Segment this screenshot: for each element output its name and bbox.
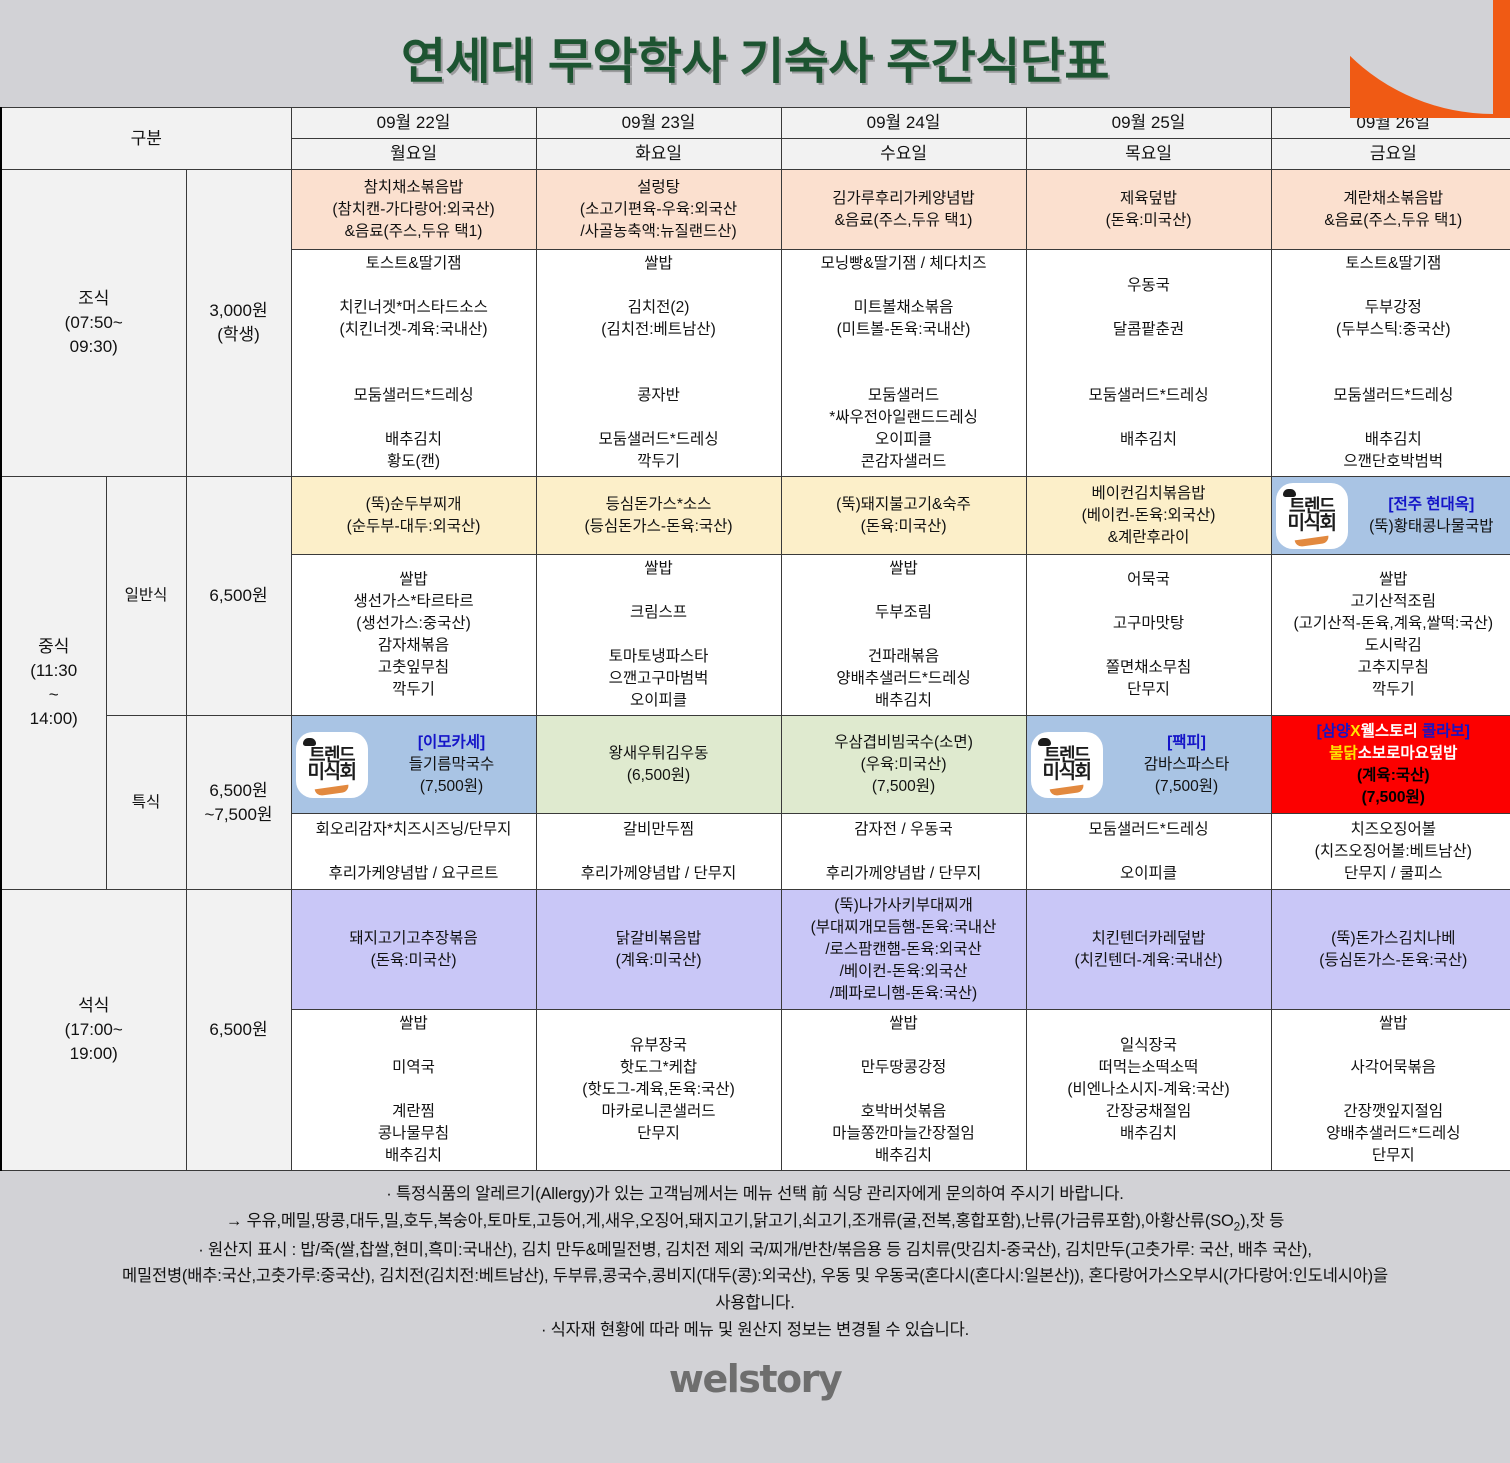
dinner-main-dish: 돼지고기고추장볶음(돈육:미국산): [291, 890, 536, 1010]
day-header-weekday: 월요일: [291, 139, 536, 170]
breakfast-side-dishes: 우동국달콤팥춘권모둠샐러드*드레싱배추김치: [1026, 250, 1271, 477]
breakfast-side-dishes: 토스트&딸기잼치킨너겟*머스타드소스(치킨너겟-계육:국내산)모둠샐러드*드레싱…: [291, 250, 536, 477]
lunch-kind-special: 특식: [106, 716, 186, 890]
lunch-special-head-row: 특식6,500원~7,500원트렌드미식회[이모카세]들기름막국수(7,500원…: [1, 716, 1510, 814]
lunch-main-dish: 등심돈가스*소스(등심돈가스-돈육:국산): [536, 477, 781, 555]
meal-label-breakfast: 조식(07:50~09:30): [1, 170, 186, 477]
badge-brand: [이모카세]: [372, 732, 532, 754]
breakfast-main-dish: 설렁탕(소고기편육-우육:외국산/사골농축액:뉴질랜드산): [536, 170, 781, 250]
lunch-side-dishes: 쌀밥두부조림건파래볶음양배추샐러드*드레싱배추김치: [781, 555, 1026, 716]
special-side-dishes: 회오리감자*치즈시즈닝/단무지후리가케양념밥 / 요구르트: [291, 814, 536, 890]
breakfast-main-dish: 제육덮밥(돈육:미국산): [1026, 170, 1271, 250]
trend-misikhoe-logo-icon: 트렌드미식회: [296, 732, 368, 798]
lunch-regular-head-row: 중식(11:30~14:00)일반식6,500원(뚝)순두부찌개(순두부-대두:…: [1, 477, 1510, 555]
day-header-weekday: 화요일: [536, 139, 781, 170]
day-header-weekday: 목요일: [1026, 139, 1271, 170]
meal-label-lunch: 중식(11:30~14:00): [1, 477, 106, 890]
collab-menu-line: 불닭소보로마요덮밥: [1274, 743, 1510, 765]
table-header-row-date: 구분09월 22일09월 23일09월 24일09월 25일09월 26일: [1, 108, 1510, 139]
dinner-side-dishes: 유부장국핫도그*케찹(핫도그-계육,돈육:국산)마카로니콘샐러드단무지: [536, 1010, 781, 1171]
chef-hat-icon: [1038, 738, 1051, 746]
lunch-main-dish: 베이컨김치볶음밥(베이컨-돈육:외국산)&계란후라이: [1026, 477, 1271, 555]
breakfast-main-dish: 참치채소볶음밥(참치캔-가다랑어:외국산)&음료(주스,두유 택1): [291, 170, 536, 250]
menu-poster: 연세대 무악학사 기숙사 주간식단표 구분09월 22일09월 23일09월 2…: [0, 0, 1510, 1463]
note-line-3: · 원산지 표시 : 밥/죽(쌀,찹쌀,현미,흑미:국내산), 김치 만두&메밀…: [22, 1237, 1488, 1264]
collab-price-line: (7,500원): [1274, 787, 1510, 809]
special-dish-collab: [삼양X웰스토리 콜라보]불닭소보로마요덮밥(계육:국산)(7,500원): [1271, 716, 1510, 814]
dinner-side-dishes: 일식장국떠먹는소떡소떡(비엔나소시지-계육:국산)간장궁채절임배추김치: [1026, 1010, 1271, 1171]
lunch-price-special: 6,500원~7,500원: [186, 716, 291, 890]
day-header-date: 09월 22일: [291, 108, 536, 139]
dinner-head-row: 석식(17:00~19:00)6,500원돼지고기고추장볶음(돈육:미국산)닭갈…: [1, 890, 1510, 1010]
trend-misikhoe-logo-icon: 트렌드미식회: [1276, 483, 1348, 549]
footer-notes: · 특정식품의 알레르기(Allergy)가 있는 고객님께서는 메뉴 선택 前…: [22, 1181, 1488, 1343]
lunch-price-regular: 6,500원: [186, 477, 291, 716]
day-header-date: 09월 25일: [1026, 108, 1271, 139]
chef-hat-icon: [303, 738, 316, 746]
collab-origin-line: (계육:국산): [1274, 765, 1510, 787]
dinner-side-dishes: 쌀밥미역국계란찜콩나물무침배추김치: [291, 1010, 536, 1171]
note-line-5: 사용합니다.: [22, 1290, 1488, 1317]
day-header-weekday: 금요일: [1271, 139, 1510, 170]
special-dish: 우삼겹비빔국수(소면)(우육:미국산)(7,500원): [781, 716, 1026, 814]
badge-brand: [전주 현대옥]: [1352, 494, 1510, 516]
lunch-kind-regular: 일반식: [106, 477, 186, 716]
lunch-main-dish: (뚝)순두부찌개(순두부-대두:외국산): [291, 477, 536, 555]
special-dish-brand: 트렌드미식회[이모카세]들기름막국수(7,500원): [291, 716, 536, 814]
badge-price: (7,500원): [372, 776, 532, 798]
lunch-side-dishes: 쌀밥고기산적조림(고기산적-돈육,계육,쌀떡:국산)도시락김고추지무침깍두기: [1271, 555, 1510, 716]
dinner-side-dishes: 쌀밥사각어묵볶음간장깻잎지절임양배추샐러드*드레싱단무지: [1271, 1010, 1510, 1171]
note-line-1: · 특정식품의 알레르기(Allergy)가 있는 고객님께서는 메뉴 선택 前…: [22, 1181, 1488, 1208]
meal-price-breakfast: 3,000원(학생): [186, 170, 291, 477]
special-side-dishes: 치즈오징어볼(치즈오징어볼:베트남산)단무지 / 쿨피스: [1271, 814, 1510, 890]
crossed-utensils-icon: [314, 784, 349, 796]
lunch-main-dish-brand: 트렌드미식회[전주 현대옥](뚝)황태콩나물국밥: [1271, 477, 1510, 555]
crossed-utensils-icon: [1294, 535, 1329, 547]
lunch-side-dishes: 쌀밥생선가스*타르타르(생선가스:중국산)감자채볶음고춧잎무침깍두기: [291, 555, 536, 716]
day-header-date: 09월 24일: [781, 108, 1026, 139]
special-side-dishes: 모둠샐러드*드레싱오이피클: [1026, 814, 1271, 890]
breakfast-side-dishes: 토스트&딸기잼두부강정(두부스틱:중국산)모둠샐러드*드레싱배추김치으깬단호박범…: [1271, 250, 1510, 477]
meal-price-dinner: 6,500원: [186, 890, 291, 1171]
dinner-main-dish: 닭갈비볶음밥(계육:미국산): [536, 890, 781, 1010]
collab-brand-line: [삼양X웰스토리 콜라보]: [1274, 721, 1510, 743]
lunch-side-dishes: 어묵국고구마맛탕쫄면채소무침단무지: [1026, 555, 1271, 716]
special-side-dishes: 갈비만두찜후리가께양념밥 / 단무지: [536, 814, 781, 890]
badge-price: (7,500원): [1107, 776, 1267, 798]
crossed-utensils-icon: [1049, 784, 1084, 796]
day-header-date: 09월 23일: [536, 108, 781, 139]
special-dish-brand: 트렌드미식회[팩피]감바스파스타(7,500원): [1026, 716, 1271, 814]
weekly-menu-table: 구분09월 22일09월 23일09월 24일09월 25일09월 26일월요일…: [0, 107, 1510, 1171]
dinner-main-dish: 치킨텐더카레덮밥(치킨텐더-계육:국내산): [1026, 890, 1271, 1010]
page-title: 연세대 무악학사 기숙사 주간식단표: [0, 0, 1510, 107]
badge-menu: 들기름막국수: [372, 754, 532, 776]
welstory-logo: welstory: [0, 1357, 1510, 1401]
corner-label: 구분: [1, 108, 291, 170]
chef-hat-icon: [1283, 489, 1296, 497]
badge-brand: [팩피]: [1107, 732, 1267, 754]
trend-misikhoe-logo-icon: 트렌드미식회: [1031, 732, 1103, 798]
lunch-side-dishes: 쌀밥크림스프토마토냉파스타으깬고구마범벅오이피클: [536, 555, 781, 716]
lunch-main-dish: (뚝)돼지불고기&숙주(돈육:미국산): [781, 477, 1026, 555]
day-header-weekday: 수요일: [781, 139, 1026, 170]
breakfast-main-dish: 계란채소볶음밥&음료(주스,두유 택1): [1271, 170, 1510, 250]
meal-label-dinner: 석식(17:00~19:00): [1, 890, 186, 1171]
dinner-side-dishes: 쌀밥만두땅콩강정호박버섯볶음마늘쫑깐마늘간장절임배추김치: [781, 1010, 1026, 1171]
badge-menu: 감바스파스타: [1107, 754, 1267, 776]
note-line-4: 메밀전병(배추:국산,고춧가루:중국산), 김치전(김치전:베트남산), 두부류…: [22, 1263, 1488, 1290]
breakfast-side-dishes: 쌀밥김치전(2)(김치전:베트남산)콩자반모둠샐러드*드레싱깍두기: [536, 250, 781, 477]
badge-menu: (뚝)황태콩나물국밥: [1352, 516, 1510, 538]
dinner-main-dish: (뚝)돈가스김치나베(등심돈가스-돈육:국산): [1271, 890, 1510, 1010]
breakfast-head-row: 조식(07:50~09:30)3,000원(학생)참치채소볶음밥(참치캔-가다랑…: [1, 170, 1510, 250]
special-side-dishes: 감자전 / 우동국후리가께양념밥 / 단무지: [781, 814, 1026, 890]
breakfast-main-dish: 김가루후리가케양념밥&음료(주스,두유 택1): [781, 170, 1026, 250]
dinner-main-dish: (뚝)나가사키부대찌개(부대찌개모듬햄-돈육:국내산/로스팜캔햄-돈육:외국산/…: [781, 890, 1026, 1010]
note-line-2: → 우유,메밀,땅콩,대두,밀,호두,복숭아,토마토,고등어,게,새우,오징어,…: [22, 1208, 1488, 1237]
breakfast-side-dishes: 모닝빵&딸기잼 / 체다치즈미트볼채소볶음(미트볼-돈육:국내산)모둠샐러드*싸…: [781, 250, 1026, 477]
note-line-6: · 식자재 현황에 따라 메뉴 및 원산지 정보는 변경될 수 있습니다.: [22, 1317, 1488, 1344]
special-dish: 왕새우튀김우동(6,500원): [536, 716, 781, 814]
